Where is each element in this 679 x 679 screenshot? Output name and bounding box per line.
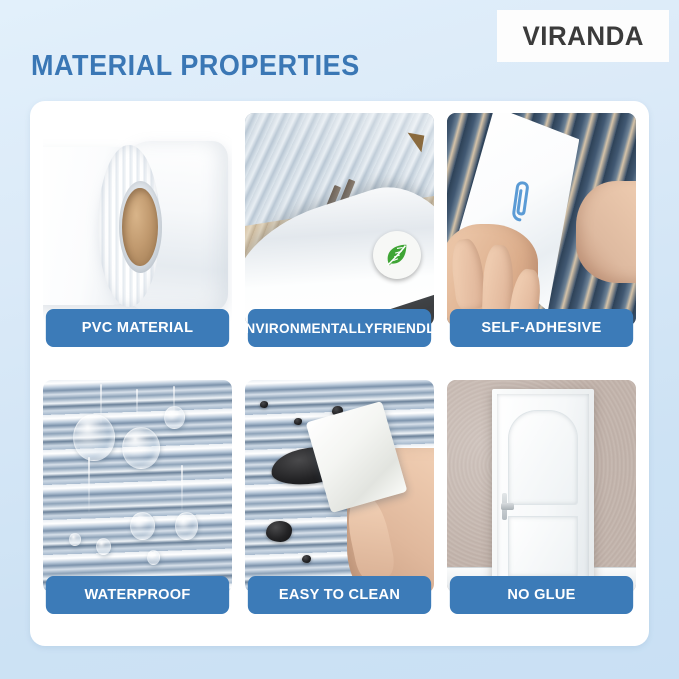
pvc-roll-image — [43, 113, 232, 326]
feature-tile-pvc-material: PVC MATERIAL — [43, 113, 232, 366]
leaf-eco-badge — [373, 231, 421, 279]
waterproof-image — [43, 380, 232, 593]
features-grid: PVC MATERIAL — [43, 113, 636, 633]
feature-tile-easy-to-clean: EASY TO CLEAN — [245, 380, 434, 633]
brand-name: VIRANDA — [522, 21, 643, 52]
page-title: MATERIAL PROPERTIES — [31, 50, 360, 83]
feature-label-self-adhesive: SELF-ADHESIVE — [450, 309, 633, 347]
feature-tile-self-adhesive: SELF-ADHESIVE — [447, 113, 636, 366]
self-adhesive-image — [447, 113, 636, 326]
feature-label-no-glue: NO GLUE — [450, 576, 633, 614]
infographic-page: VIRANDA MATERIAL PROPERTIES PVC MATERIAL — [0, 0, 679, 679]
leaf-icon — [382, 240, 412, 270]
brand-logo: VIRANDA — [497, 10, 669, 62]
paperclip-glyph — [504, 176, 540, 228]
feature-tile-waterproof: WATERPROOF — [43, 380, 232, 633]
label-line-1: ENVIRONMENTALLY — [236, 321, 374, 335]
feature-label-waterproof: WATERPROOF — [46, 576, 229, 614]
feature-tile-environmentally-friendly: ENVIRONMENTALLY FRIENDLY — [245, 113, 434, 366]
easy-to-clean-image — [245, 380, 434, 593]
no-glue-door-image — [447, 380, 636, 593]
feature-label-easy-to-clean: EASY TO CLEAN — [248, 576, 431, 614]
feature-label-pvc-material: PVC MATERIAL — [46, 309, 229, 347]
feature-tile-no-glue: NO GLUE — [447, 380, 636, 633]
feature-label-environmentally-friendly: ENVIRONMENTALLY FRIENDLY — [248, 309, 431, 347]
label-line-2: FRIENDLY — [374, 321, 443, 335]
eco-wallpaper-image — [245, 113, 434, 326]
paperclip-icon — [503, 176, 540, 233]
features-card: PVC MATERIAL — [30, 101, 649, 646]
